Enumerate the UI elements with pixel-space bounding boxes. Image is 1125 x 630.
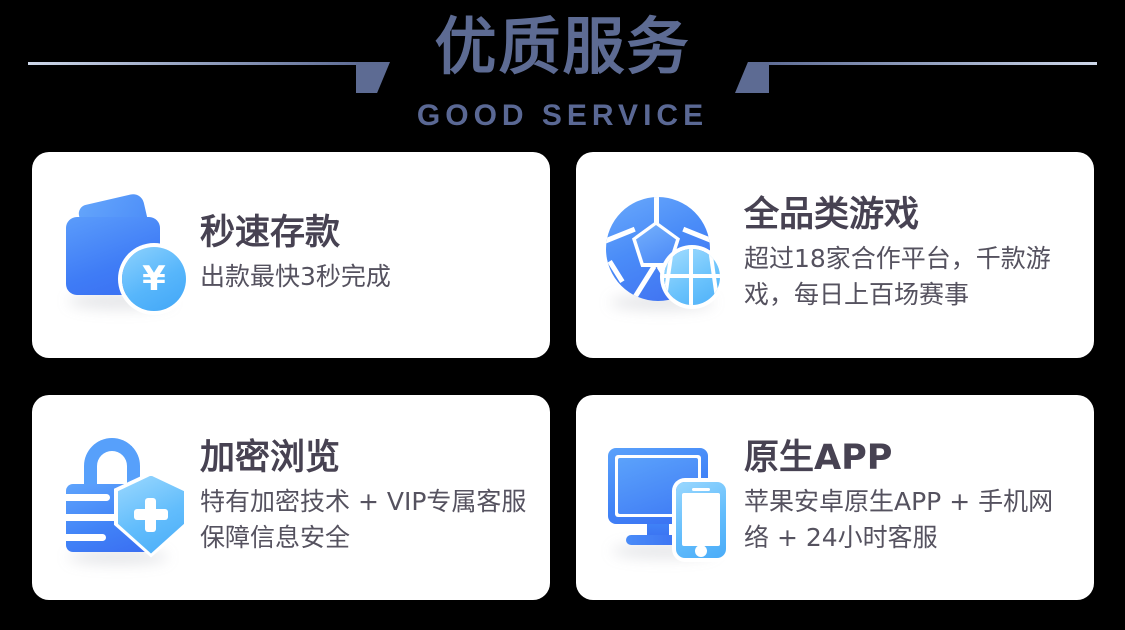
card-description: 出款最快3秒完成 xyxy=(200,259,391,295)
basketball-icon xyxy=(664,249,720,305)
card-title: 秒速存款 xyxy=(200,211,391,255)
soccer-seam xyxy=(606,227,636,244)
page-subtitle: GOOD SERVICE xyxy=(0,98,1125,134)
feature-card-all-games[interactable]: 全品类游戏 超过18家合作平台，千款游戏，每日上百场赛事 xyxy=(576,152,1094,358)
feature-card-instant-deposit[interactable]: ¥ 秒速存款 出款最快3秒完成 xyxy=(32,152,550,358)
page-title: 优质服务 xyxy=(0,10,1125,84)
card-text-block: 加密浏览 特有加密技术 + VIP专属客服保障信息安全 xyxy=(200,436,530,560)
card-text-block: 秒速存款 出款最快3秒完成 xyxy=(200,211,391,299)
feature-card-native-app[interactable]: 原生APP 苹果安卓原生APP + 手机网络 + 24小时客服 xyxy=(576,395,1094,600)
feature-card-grid: ¥ 秒速存款 出款最快3秒完成 xyxy=(32,152,1094,600)
plus-icon xyxy=(145,498,156,532)
card-description: 超过18家合作平台，千款游戏，每日上百场赛事 xyxy=(744,241,1074,313)
page-header: 优质服务 GOOD SERVICE xyxy=(0,0,1125,148)
card-text-block: 全品类游戏 超过18家合作平台，千款游戏，每日上百场赛事 xyxy=(744,193,1074,317)
soccer-seam xyxy=(654,197,659,223)
card-title: 加密浏览 xyxy=(200,436,530,480)
card-description: 特有加密技术 + VIP专属客服保障信息安全 xyxy=(200,484,530,556)
soccer-seam xyxy=(607,202,626,221)
phone-home-button-icon xyxy=(695,545,707,557)
feature-card-encrypted-browsing[interactable]: 加密浏览 特有加密技术 + VIP专属客服保障信息安全 xyxy=(32,395,550,600)
card-text-block: 原生APP 苹果安卓原生APP + 手机网络 + 24小时客服 xyxy=(744,436,1074,560)
soccer-seam xyxy=(689,202,708,221)
card-description: 苹果安卓原生APP + 手机网络 + 24小时客服 xyxy=(744,484,1074,556)
padlock-with-shield-icon xyxy=(60,432,192,564)
monitor-with-phone-icon xyxy=(604,432,736,564)
wallet-with-yen-coin-icon: ¥ xyxy=(60,189,192,321)
soccer-ball-with-basketball-icon xyxy=(604,189,736,321)
card-title: 全品类游戏 xyxy=(744,193,1074,237)
phone-speaker-icon xyxy=(692,488,710,491)
mobile-phone-icon xyxy=(676,482,726,558)
soccer-seam xyxy=(629,265,657,301)
phone-screen xyxy=(682,493,720,546)
soccer-seam xyxy=(608,260,625,283)
yen-coin-icon: ¥ xyxy=(122,247,186,311)
padlock-stripe xyxy=(66,494,110,501)
padlock-stripe xyxy=(66,534,106,541)
card-title: 原生APP xyxy=(744,436,1074,480)
soccer-seam xyxy=(682,227,710,244)
